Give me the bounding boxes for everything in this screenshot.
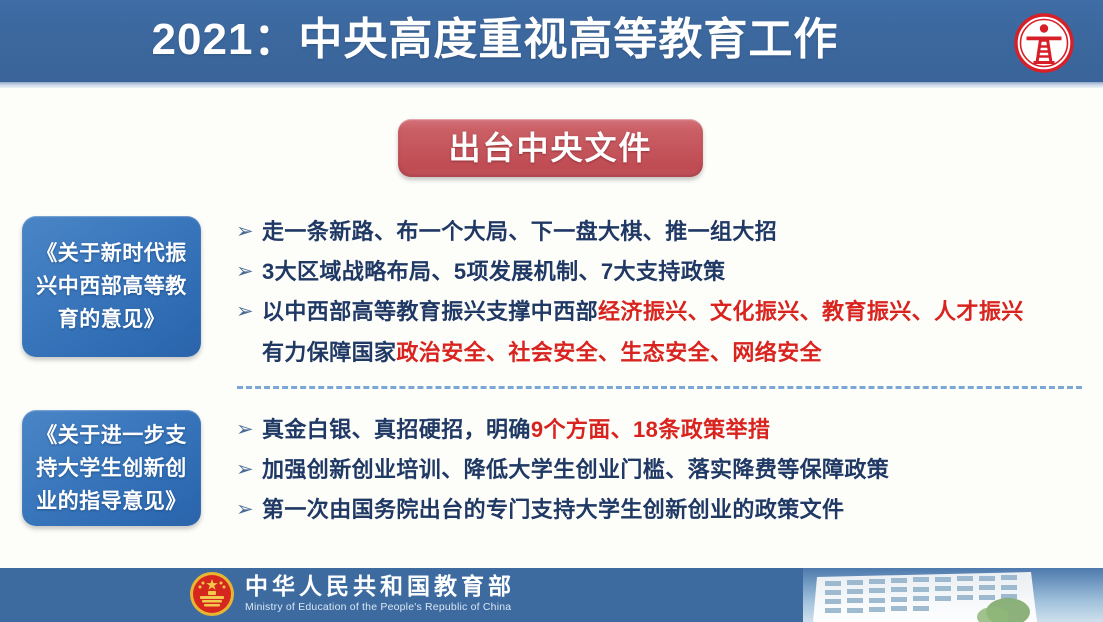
bullet-item-text: 第一次由国务院出台的专门支持大学生创新创业的政策文件 [262, 492, 1091, 528]
bullet-item: ➢走一条新路、布一个大局、下一盘大棋、推一组大招 [236, 214, 1091, 250]
university-emblem-icon [1013, 12, 1075, 74]
document-chip-2[interactable]: 《关于进一步支持大学生创新创业的指导意见》 [22, 410, 201, 526]
bullet-plain-text: 3大区域战略布局、5项发展机制、7大支持政策 [262, 259, 726, 284]
bullet-arrow-icon: ➢ [236, 254, 262, 290]
footer-organization: 中华人民共和国教育部 Ministry of Education of the … [245, 572, 515, 615]
bullet-item: ➢加强创新创业培训、降低大学生创业门槛、落实降费等保障政策 [236, 452, 1091, 488]
section-divider [237, 386, 1082, 389]
document-chip-1-label: 《关于新时代振兴中西部高等教育的意见》 [34, 237, 189, 336]
bullet-item: ➢以中西部高等教育振兴支撑中西部经济振兴、文化振兴、教育振兴、人才振兴 [236, 294, 1091, 330]
bullet-plain-text: 真金白银、真招硬招，明确 [262, 417, 531, 442]
bullet-plain-text: 有力保障国家 [262, 340, 396, 365]
bullet-list-top: ➢走一条新路、布一个大局、下一盘大棋、推一组大招➢3大区域战略布局、5项发展机制… [236, 214, 1091, 372]
section-badge: 出台中央文件 [398, 119, 703, 177]
bullet-plain-text: 走一条新路、布一个大局、下一盘大棋、推一组大招 [262, 219, 777, 244]
header-underline [0, 82, 1103, 88]
bullet-accent-text: 9个方面、18条政策举措 [531, 417, 771, 442]
presentation-slide: 2021：中央高度重视高等教育工作 出台中央文件 《关于新时代振兴中西部高等教育… [0, 0, 1103, 622]
bullet-item-text: 3大区域战略布局、5项发展机制、7大支持政策 [262, 254, 1091, 290]
bullet-item-continuation: 有力保障国家政治安全、社会安全、生态安全、网络安全 [236, 334, 1091, 372]
bullet-item-text: 以中西部高等教育振兴支撑中西部经济振兴、文化振兴、教育振兴、人才振兴 [262, 294, 1091, 330]
document-chip-1[interactable]: 《关于新时代振兴中西部高等教育的意见》 [22, 216, 201, 357]
footer-organization-en: Ministry of Education of the People's Re… [245, 600, 515, 615]
bullet-plain-text: 加强创新创业培训、降低大学生创业门槛、落实降费等保障政策 [262, 457, 889, 482]
bullet-item-text: 真金白银、真招硬招，明确9个方面、18条政策举措 [262, 412, 1091, 448]
slide-footer-bar [0, 568, 1103, 622]
page-title: 2021：中央高度重视高等教育工作 [0, 11, 990, 69]
bullet-item-text: 走一条新路、布一个大局、下一盘大棋、推一组大招 [262, 214, 1091, 250]
bullet-arrow-icon: ➢ [236, 492, 262, 528]
document-chip-2-label: 《关于进一步支持大学生创新创业的指导意见》 [34, 419, 189, 518]
bullet-item: ➢3大区域战略布局、5项发展机制、7大支持政策 [236, 254, 1091, 290]
bullet-list-bottom: ➢真金白银、真招硬招，明确9个方面、18条政策举措➢加强创新创业培训、降低大学生… [236, 412, 1091, 532]
bullet-plain-text: 以中西部高等教育振兴支撑中西部 [262, 299, 598, 324]
bullet-plain-text: 第一次由国务院出台的专门支持大学生创新创业的政策文件 [262, 497, 844, 522]
bullet-accent-text: 政治安全、社会安全、生态安全、网络安全 [396, 340, 822, 365]
footer-organization-cn: 中华人民共和国教育部 [245, 572, 515, 600]
bullet-item: ➢第一次由国务院出台的专门支持大学生创新创业的政策文件 [236, 492, 1091, 528]
bullet-arrow-icon: ➢ [236, 412, 262, 448]
national-emblem-icon [188, 570, 236, 618]
bullet-arrow-icon: ➢ [236, 294, 262, 330]
ministry-building-photo [803, 568, 1103, 622]
bullet-arrow-icon: ➢ [236, 452, 262, 488]
bullet-item: ➢真金白银、真招硬招，明确9个方面、18条政策举措 [236, 412, 1091, 448]
bullet-accent-text: 经济振兴、文化振兴、教育振兴、人才振兴 [598, 299, 1024, 324]
section-badge-label: 出台中央文件 [448, 128, 652, 168]
bullet-item-text: 加强创新创业培训、降低大学生创业门槛、落实降费等保障政策 [262, 452, 1091, 488]
bullet-arrow-icon: ➢ [236, 214, 262, 250]
